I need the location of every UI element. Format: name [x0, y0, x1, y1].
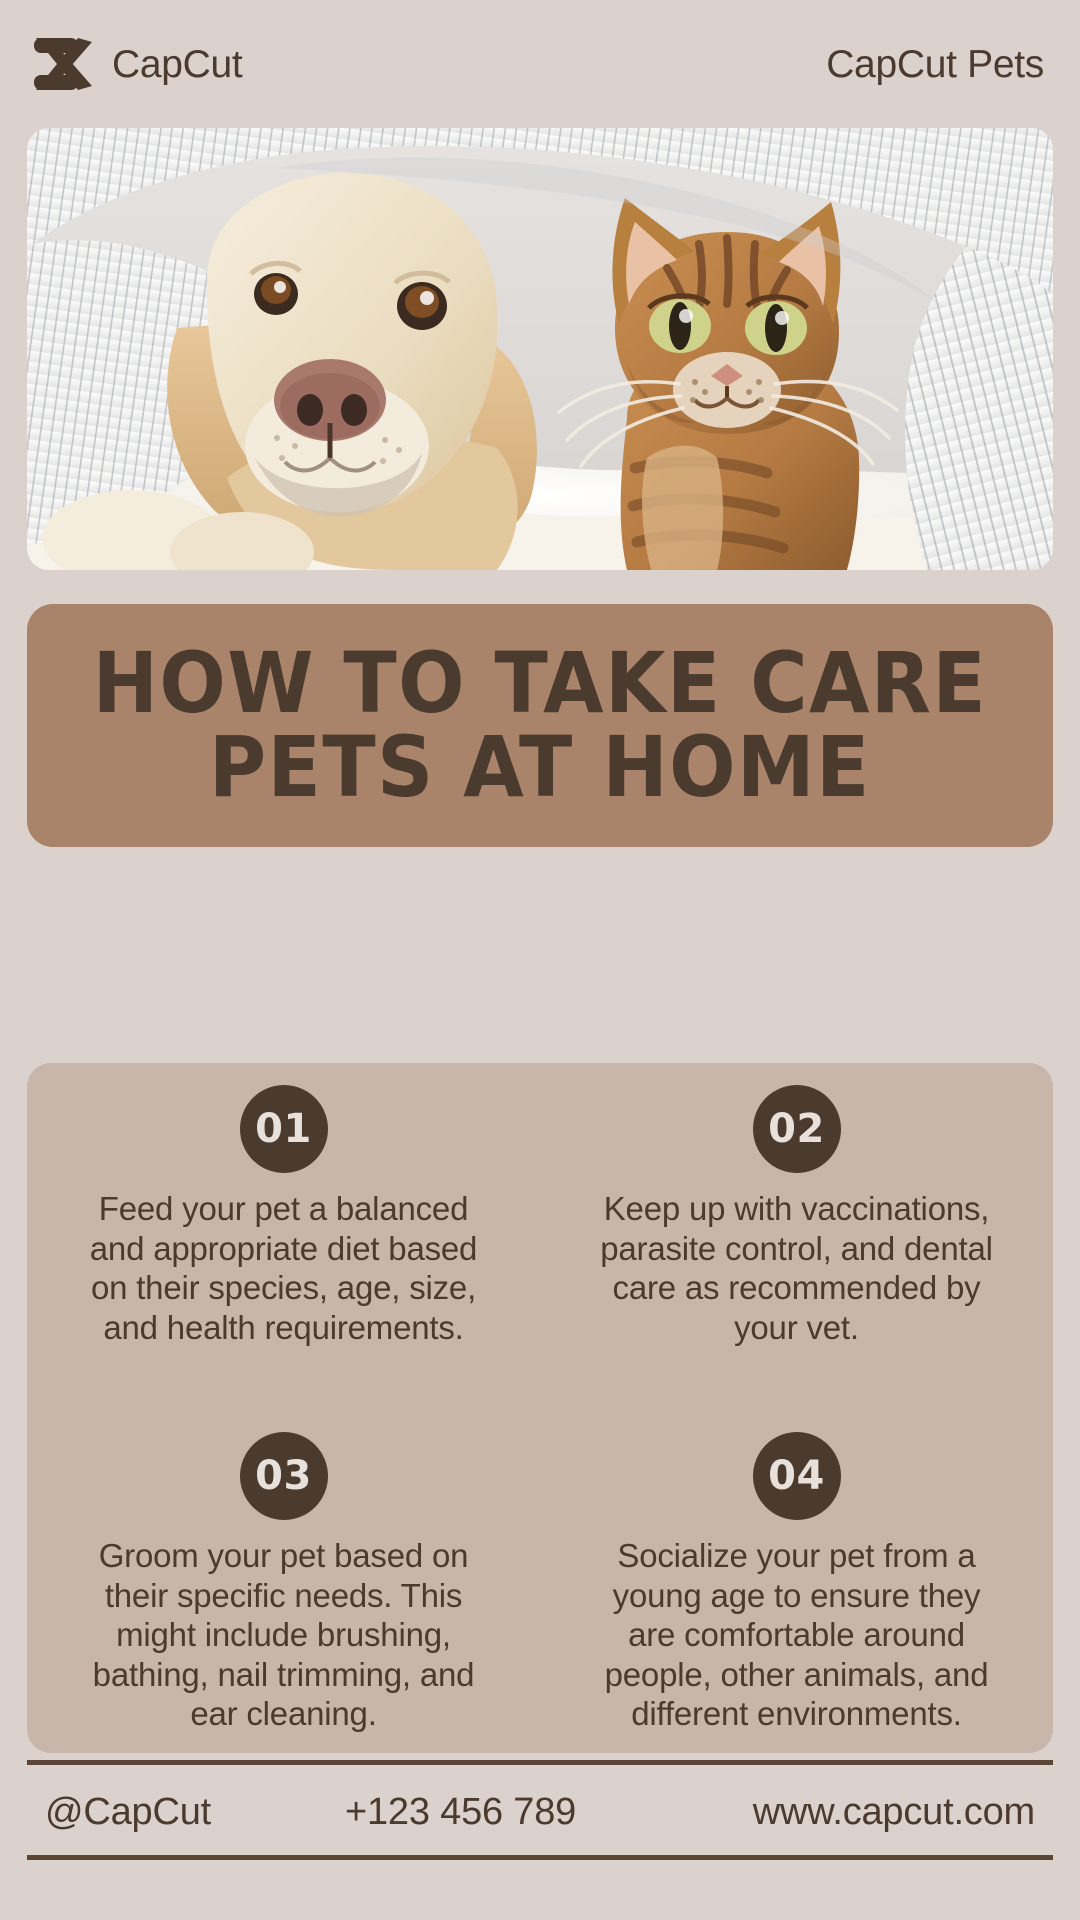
- pets-illustration: [27, 128, 1053, 570]
- tip-number-badge-04: 04: [753, 1432, 841, 1520]
- infographic-poster: CapCut CapCut Pets: [0, 0, 1080, 1920]
- tip-number-badge-01: 01: [240, 1085, 328, 1173]
- tip-text-02: Keep up with vaccinations, parasite cont…: [587, 1189, 1007, 1347]
- page-header: CapCut CapCut Pets: [0, 0, 1080, 128]
- tip-item-03: 03 Groom your pet based on their specifi…: [27, 1408, 540, 1753]
- brand-name: CapCut: [112, 45, 242, 84]
- footer-divider-bottom: [27, 1855, 1053, 1860]
- tip-number-badge-03: 03: [240, 1432, 328, 1520]
- tip-item-04: 04 Socialize your pet from a young age t…: [540, 1408, 1053, 1753]
- footer-website[interactable]: www.capcut.com: [675, 1793, 1035, 1831]
- title-line-2: PETS AT HOME: [209, 726, 871, 809]
- footer-phone[interactable]: +123 456 789: [345, 1793, 675, 1831]
- tip-text-01: Feed your pet a balanced and appropriate…: [74, 1189, 494, 1347]
- brand-lockup[interactable]: CapCut: [30, 36, 242, 92]
- hero-photo: [27, 128, 1053, 570]
- tip-item-02: 02 Keep up with vaccinations, parasite c…: [540, 1063, 1053, 1408]
- tips-grid: 01 Feed your pet a balanced and appropri…: [27, 1063, 1053, 1753]
- tips-card: 01 Feed your pet a balanced and appropri…: [27, 1063, 1053, 1753]
- tip-text-04: Socialize your pet from a young age to e…: [587, 1536, 1007, 1734]
- tip-number-badge-02: 02: [753, 1085, 841, 1173]
- footer-handle[interactable]: @CapCut: [45, 1793, 345, 1831]
- header-right-label: CapCut Pets: [826, 45, 1044, 84]
- page-footer: @CapCut +123 456 789 www.capcut.com: [27, 1772, 1053, 1852]
- title-banner: HOW TO TAKE CARE PETS AT HOME: [27, 604, 1053, 847]
- title-line-1: HOW TO TAKE CARE: [93, 642, 987, 725]
- footer-divider-top: [27, 1760, 1053, 1765]
- tip-text-03: Groom your pet based on their specific n…: [74, 1536, 494, 1734]
- tip-item-01: 01 Feed your pet a balanced and appropri…: [27, 1063, 540, 1408]
- capcut-logo-icon: [30, 36, 96, 92]
